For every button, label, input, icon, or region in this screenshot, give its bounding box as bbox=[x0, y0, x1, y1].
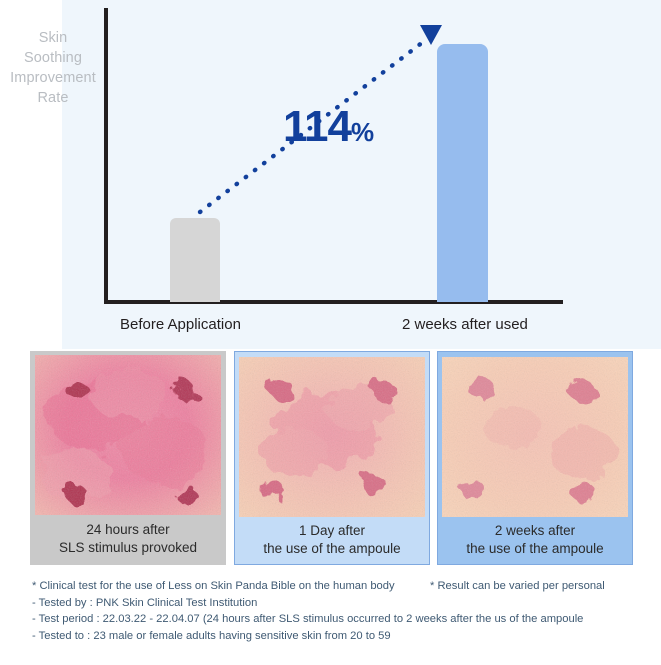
skin-photo-1-day bbox=[239, 357, 425, 517]
x-tick-before-application: Before Application bbox=[120, 316, 241, 333]
infographic-page: Skin Soothing Improvement Rate 114% Befo… bbox=[0, 0, 661, 665]
photo-panel-24-hours: 24 hours after SLS stimulus provoked bbox=[30, 351, 226, 565]
skin-photo-2-weeks bbox=[442, 357, 628, 517]
improvement-value: 114% bbox=[283, 105, 374, 154]
improvement-value-unit: % bbox=[351, 117, 374, 147]
photo-panel-2-weeks: 2 weeks after the use of the ampoule bbox=[437, 351, 633, 565]
bar-before-application bbox=[170, 218, 220, 302]
photo-caption-2-weeks: 2 weeks after the use of the ampoule bbox=[438, 517, 632, 564]
y-axis-label: Skin Soothing Improvement Rate bbox=[0, 28, 106, 108]
footnote-line-4: - Tested to : 23 male or female adults h… bbox=[32, 628, 652, 645]
skin-photo-24-hours bbox=[35, 355, 221, 515]
x-tick-2-weeks-after-used: 2 weeks after used bbox=[402, 316, 528, 333]
footnote-result-disclaimer: * Result can be varied per personal bbox=[430, 578, 605, 595]
photo-caption-24-hours: 24 hours after SLS stimulus provoked bbox=[30, 515, 226, 565]
footnote-line-3: - Test period : 22.03.22 - 22.04.07 (24 … bbox=[32, 611, 652, 628]
improvement-value-number: 114 bbox=[283, 102, 351, 151]
footnote-line-2: - Tested by : PNK Skin Clinical Test Ins… bbox=[32, 595, 652, 612]
photo-panel-row: 24 hours after SLS stimulus provoked bbox=[0, 349, 661, 565]
photo-caption-1-day: 1 Day after the use of the ampoule bbox=[235, 517, 429, 564]
y-axis-line bbox=[104, 8, 108, 304]
bar-2-weeks-after-used bbox=[437, 44, 488, 302]
bar-chart: Skin Soothing Improvement Rate 114% Befo… bbox=[0, 0, 661, 349]
photo-panel-1-day: 1 Day after the use of the ampoule bbox=[234, 351, 430, 565]
